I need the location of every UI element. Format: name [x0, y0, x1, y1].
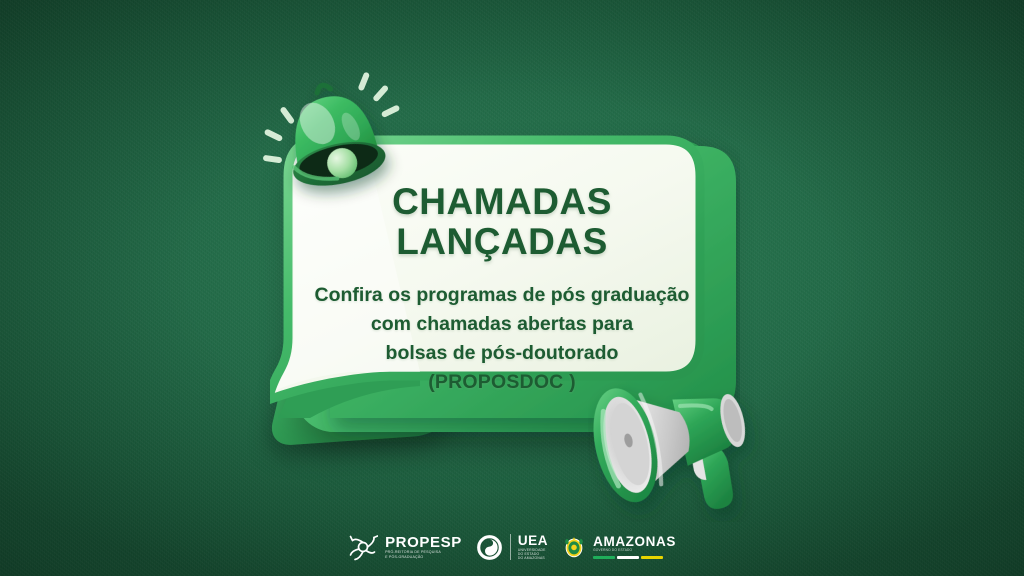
logo-amazonas-subtitle: GOVERNO DO ESTADO	[593, 549, 676, 553]
logo-propesp-name: PROPESP	[385, 535, 462, 550]
propesp-logo-mark	[348, 532, 378, 562]
gov-color-bar	[593, 556, 676, 559]
amazonas-coat-of-arms	[562, 534, 586, 560]
footer-logos: PROPESP PRÓ-REITORIA DE PESQUISA E PÓS-G…	[0, 532, 1024, 562]
logo-propesp: PROPESP PRÓ-REITORIA DE PESQUISA E PÓS-G…	[348, 532, 462, 562]
logo-uea-name: UEA	[518, 534, 548, 548]
poster-canvas: CHAMADAS LANÇADAS Confira os programas d…	[0, 0, 1024, 576]
body-line-1: Confira os programas de pós graduação	[300, 281, 704, 310]
logo-divider	[510, 534, 511, 560]
logo-uea-subtitle-3: DO AMAZONAS	[518, 556, 548, 560]
headline-line-1: CHAMADAS	[392, 181, 612, 222]
logo-amazonas-name: AMAZONAS	[593, 535, 676, 549]
headline-line-2: LANÇADAS	[396, 221, 608, 262]
bell-icon	[262, 58, 412, 218]
body-line-2: com chamadas abertas para	[300, 310, 704, 339]
megaphone-icon	[588, 342, 778, 522]
logo-uea: UEA UNIVERSIDADE DO ESTADO DO AMAZONAS	[476, 534, 548, 561]
logo-amazonas: AMAZONAS GOVERNO DO ESTADO	[562, 534, 676, 560]
uea-logo-mark	[476, 534, 503, 561]
logo-propesp-subtitle-2: E PÓS-GRADUAÇÃO	[385, 555, 462, 559]
